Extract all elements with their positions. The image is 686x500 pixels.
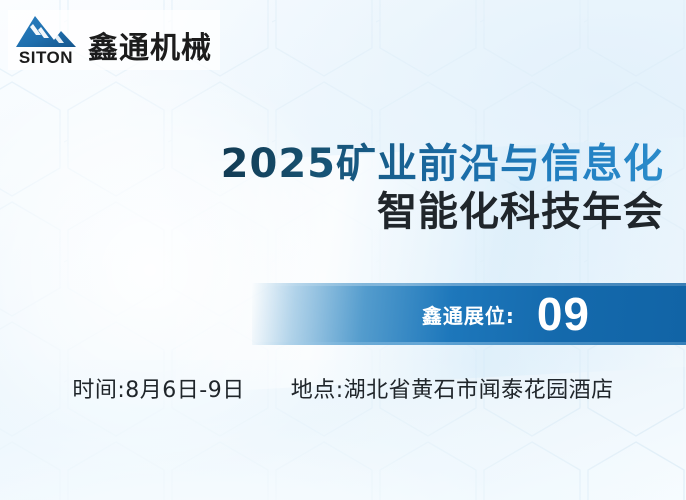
event-location: 地点:湖北省黄石市闻泰花园酒店 xyxy=(291,372,614,404)
mountain-logo-icon xyxy=(14,14,78,48)
title-line-primary: 2025矿业前沿与信息化 xyxy=(221,142,664,187)
company-logo: SITON 鑫通机械 xyxy=(8,10,220,70)
booth-number: 09 xyxy=(537,291,590,337)
hexagon-pattern-decoration xyxy=(0,0,686,500)
booth-banner: 鑫通展位: 09 xyxy=(252,283,686,345)
logo-mark: SITON xyxy=(12,14,80,66)
event-banner: SITON 鑫通机械 2025矿业前沿与信息化 智能化科技年会 鑫通展位: 09… xyxy=(0,0,686,500)
title-line-secondary: 智能化科技年会 xyxy=(221,189,664,236)
event-info-row: 时间:8月6日-9日 地点:湖北省黄石市闻泰花园酒店 xyxy=(0,372,686,404)
event-title: 2025矿业前沿与信息化 智能化科技年会 xyxy=(221,142,664,236)
logo-chinese-text: 鑫通机械 xyxy=(88,34,212,66)
event-time: 时间:8月6日-9日 xyxy=(72,372,244,404)
booth-label: 鑫通展位: xyxy=(422,300,515,329)
logo-latin-text: SITON xyxy=(19,49,73,66)
